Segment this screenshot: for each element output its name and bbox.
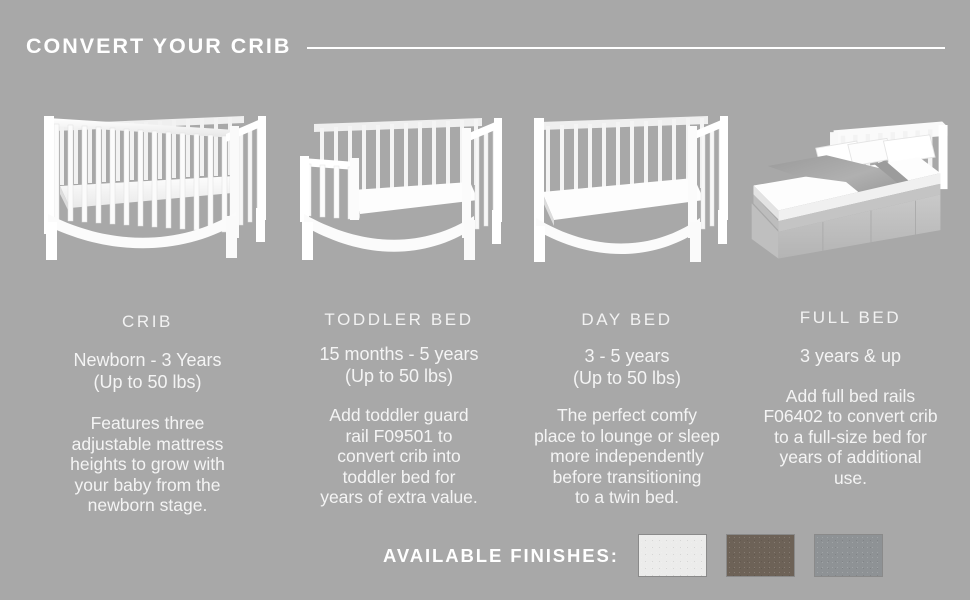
stage-title-crib: CRIB <box>10 312 285 332</box>
page-title: CONVERT YOUR CRIB <box>26 36 291 58</box>
stage-day-bed: DAY BED 3 - 5 years(Up to 50 lbs) The pe… <box>513 96 741 516</box>
stage-description-full-bed: Add full bed railsF06402 to convert crib… <box>741 386 960 489</box>
available-finishes-label: AVAILABLE FINISHES: <box>383 534 619 577</box>
available-finishes: AVAILABLE FINISHES: <box>383 534 883 577</box>
day-bed-photo <box>513 96 741 268</box>
stage-age-day-bed: 3 - 5 years(Up to 50 lbs) <box>513 346 741 389</box>
finish-swatch-white[interactable] <box>638 534 707 577</box>
crib-illustration <box>30 96 266 268</box>
stage-age-crib: Newborn - 3 Years(Up to 50 lbs) <box>10 350 285 393</box>
stage-title-day-bed: DAY BED <box>513 310 741 330</box>
stage-toddler-bed: TODDLER BED 15 months - 5 years(Up to 50… <box>285 96 513 516</box>
header-divider <box>307 47 945 49</box>
stage-age-toddler-bed: 15 months - 5 years(Up to 50 lbs) <box>285 344 513 387</box>
day-bed-illustration <box>522 96 732 268</box>
conversion-stages: CRIB Newborn - 3 Years(Up to 50 lbs) Fea… <box>10 96 960 516</box>
full-bed-photo <box>741 96 960 268</box>
page-header: CONVERT YOUR CRIB <box>26 30 945 64</box>
finish-swatch-espresso[interactable] <box>726 534 795 577</box>
finish-swatch-gray[interactable] <box>814 534 883 577</box>
toddler-bed-caption: TODDLER BED 15 months - 5 years(Up to 50… <box>285 310 513 508</box>
crib-caption: CRIB Newborn - 3 Years(Up to 50 lbs) Fea… <box>10 312 285 516</box>
stage-description-toddler-bed: Add toddler guardrail F09501 toconvert c… <box>285 405 513 508</box>
toddler-bed-illustration <box>294 96 504 268</box>
stage-crib: CRIB Newborn - 3 Years(Up to 50 lbs) Fea… <box>10 96 285 516</box>
stage-description-crib: Features threeadjustable mattressheights… <box>10 413 285 516</box>
stage-title-toddler-bed: TODDLER BED <box>285 310 513 330</box>
stage-full-bed: FULL BED 3 years & up Add full bed rails… <box>741 96 960 516</box>
full-bed-caption: FULL BED 3 years & up Add full bed rails… <box>741 308 960 488</box>
day-bed-caption: DAY BED 3 - 5 years(Up to 50 lbs) The pe… <box>513 310 741 508</box>
stage-title-full-bed: FULL BED <box>741 308 960 328</box>
crib-photo <box>10 96 285 268</box>
stage-description-day-bed: The perfect comfyplace to lounge or slee… <box>513 405 741 508</box>
full-bed-illustration <box>741 96 960 268</box>
finish-swatches <box>638 534 883 577</box>
stage-age-full-bed: 3 years & up <box>741 346 960 368</box>
toddler-bed-photo <box>285 96 513 268</box>
